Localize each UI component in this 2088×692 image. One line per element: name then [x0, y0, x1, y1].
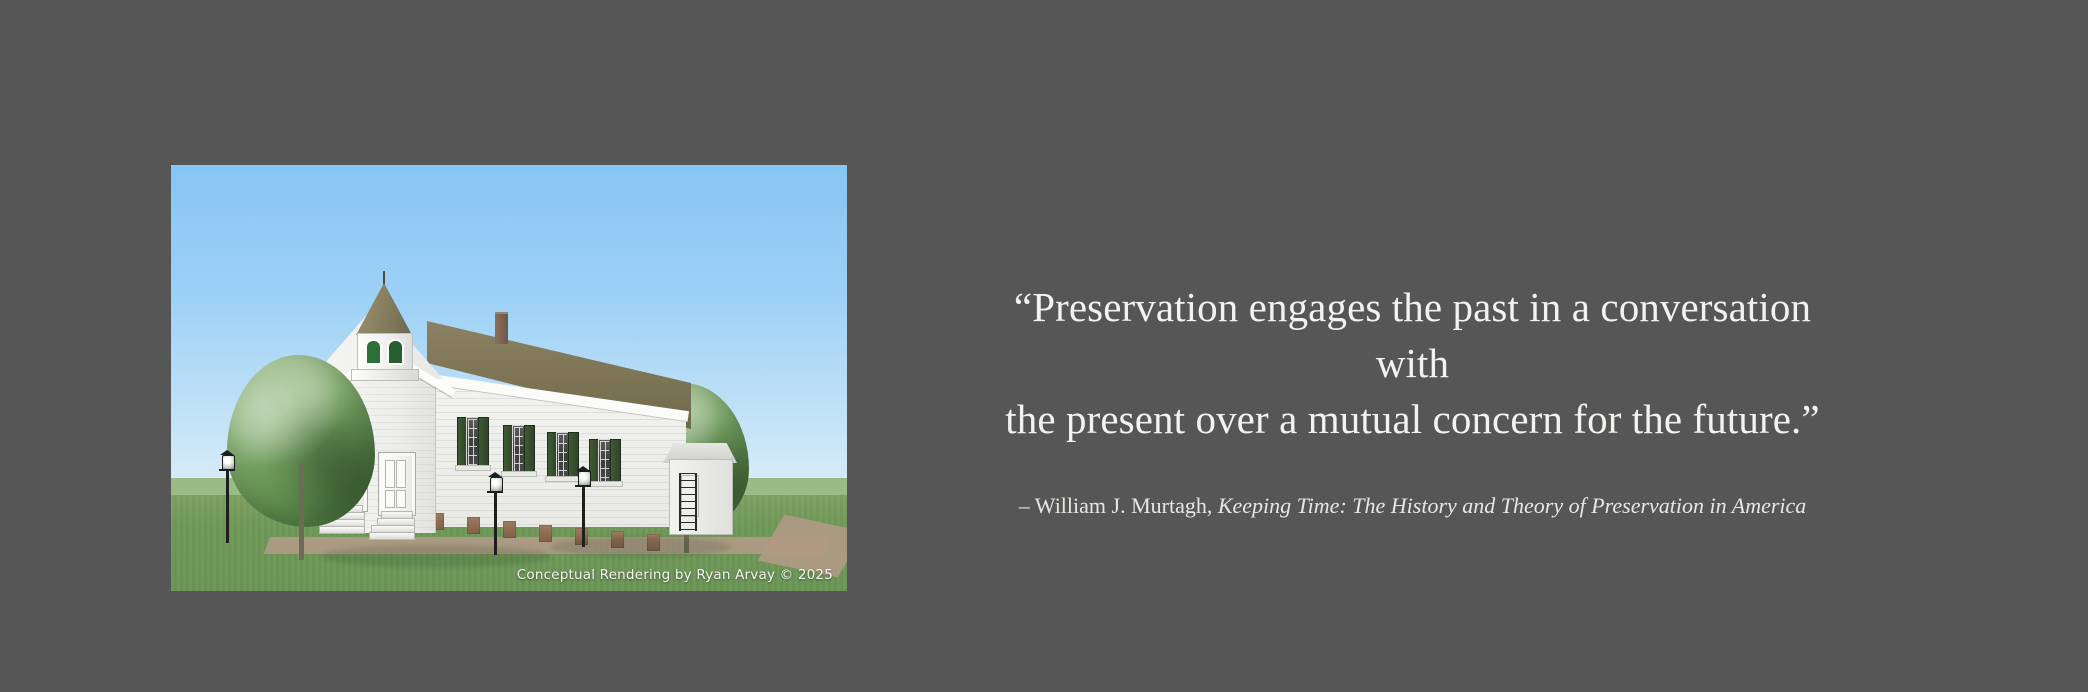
brick-pier	[503, 521, 516, 538]
lamp-head	[490, 477, 503, 492]
ground-shadow	[321, 545, 551, 567]
lamp-head	[222, 455, 235, 470]
entry-door-right	[379, 453, 415, 515]
lamppost-icon	[575, 471, 591, 547]
lamp-head	[578, 471, 591, 486]
slide-root: Conceptual Rendering by Ryan Arvay © 202…	[0, 0, 2088, 692]
door-panel	[396, 460, 406, 488]
window-sill	[455, 465, 491, 471]
steeple-finial	[383, 271, 385, 285]
brick-chimney	[495, 312, 508, 344]
lamp-post	[494, 491, 497, 555]
quote-text: “Preservation engages the past in a conv…	[980, 279, 1845, 447]
steeple-spire	[356, 283, 412, 335]
shuttered-window	[457, 417, 487, 467]
quote-attribution: – William J. Murtagh, Keeping Time: The …	[940, 491, 1885, 522]
lamp-post	[582, 485, 585, 547]
brick-pier	[539, 525, 552, 542]
window-sill	[501, 471, 537, 477]
door-panel	[385, 460, 395, 488]
rendering-canvas	[171, 165, 847, 591]
left-shade-tree-icon	[227, 355, 375, 560]
attribution-author: – William J. Murtagh,	[1019, 493, 1218, 518]
shuttered-window	[547, 432, 577, 478]
brick-pier	[467, 517, 480, 534]
stair-railing	[679, 473, 697, 531]
shutter-right	[478, 417, 489, 469]
shuttered-window	[589, 439, 619, 483]
window-sill	[587, 481, 623, 487]
attribution-book-title: Keeping Time: The History and Theory of …	[1218, 493, 1806, 518]
lamp-post	[226, 469, 229, 543]
quote-line-1: “Preservation engages the past in a conv…	[980, 279, 1845, 391]
door-panel	[396, 490, 406, 508]
shutter-right	[610, 439, 621, 485]
tree-trunk	[299, 464, 304, 560]
lamppost-icon	[487, 477, 503, 555]
conceptual-rendering-figure: Conceptual Rendering by Ryan Arvay © 202…	[171, 165, 847, 591]
pull-quote-block: “Preservation engages the past in a conv…	[940, 238, 1885, 522]
rendering-caption: Conceptual Rendering by Ryan Arvay © 202…	[517, 567, 833, 583]
belfry-opening	[389, 341, 402, 363]
shuttered-window	[503, 425, 533, 473]
quote-line-2: the present over a mutual concern for th…	[980, 391, 1845, 447]
entry-steps-right	[369, 511, 413, 537]
shutter-right	[524, 425, 535, 475]
lamppost-icon	[219, 455, 235, 543]
step	[369, 532, 415, 540]
door-panel	[385, 490, 395, 508]
